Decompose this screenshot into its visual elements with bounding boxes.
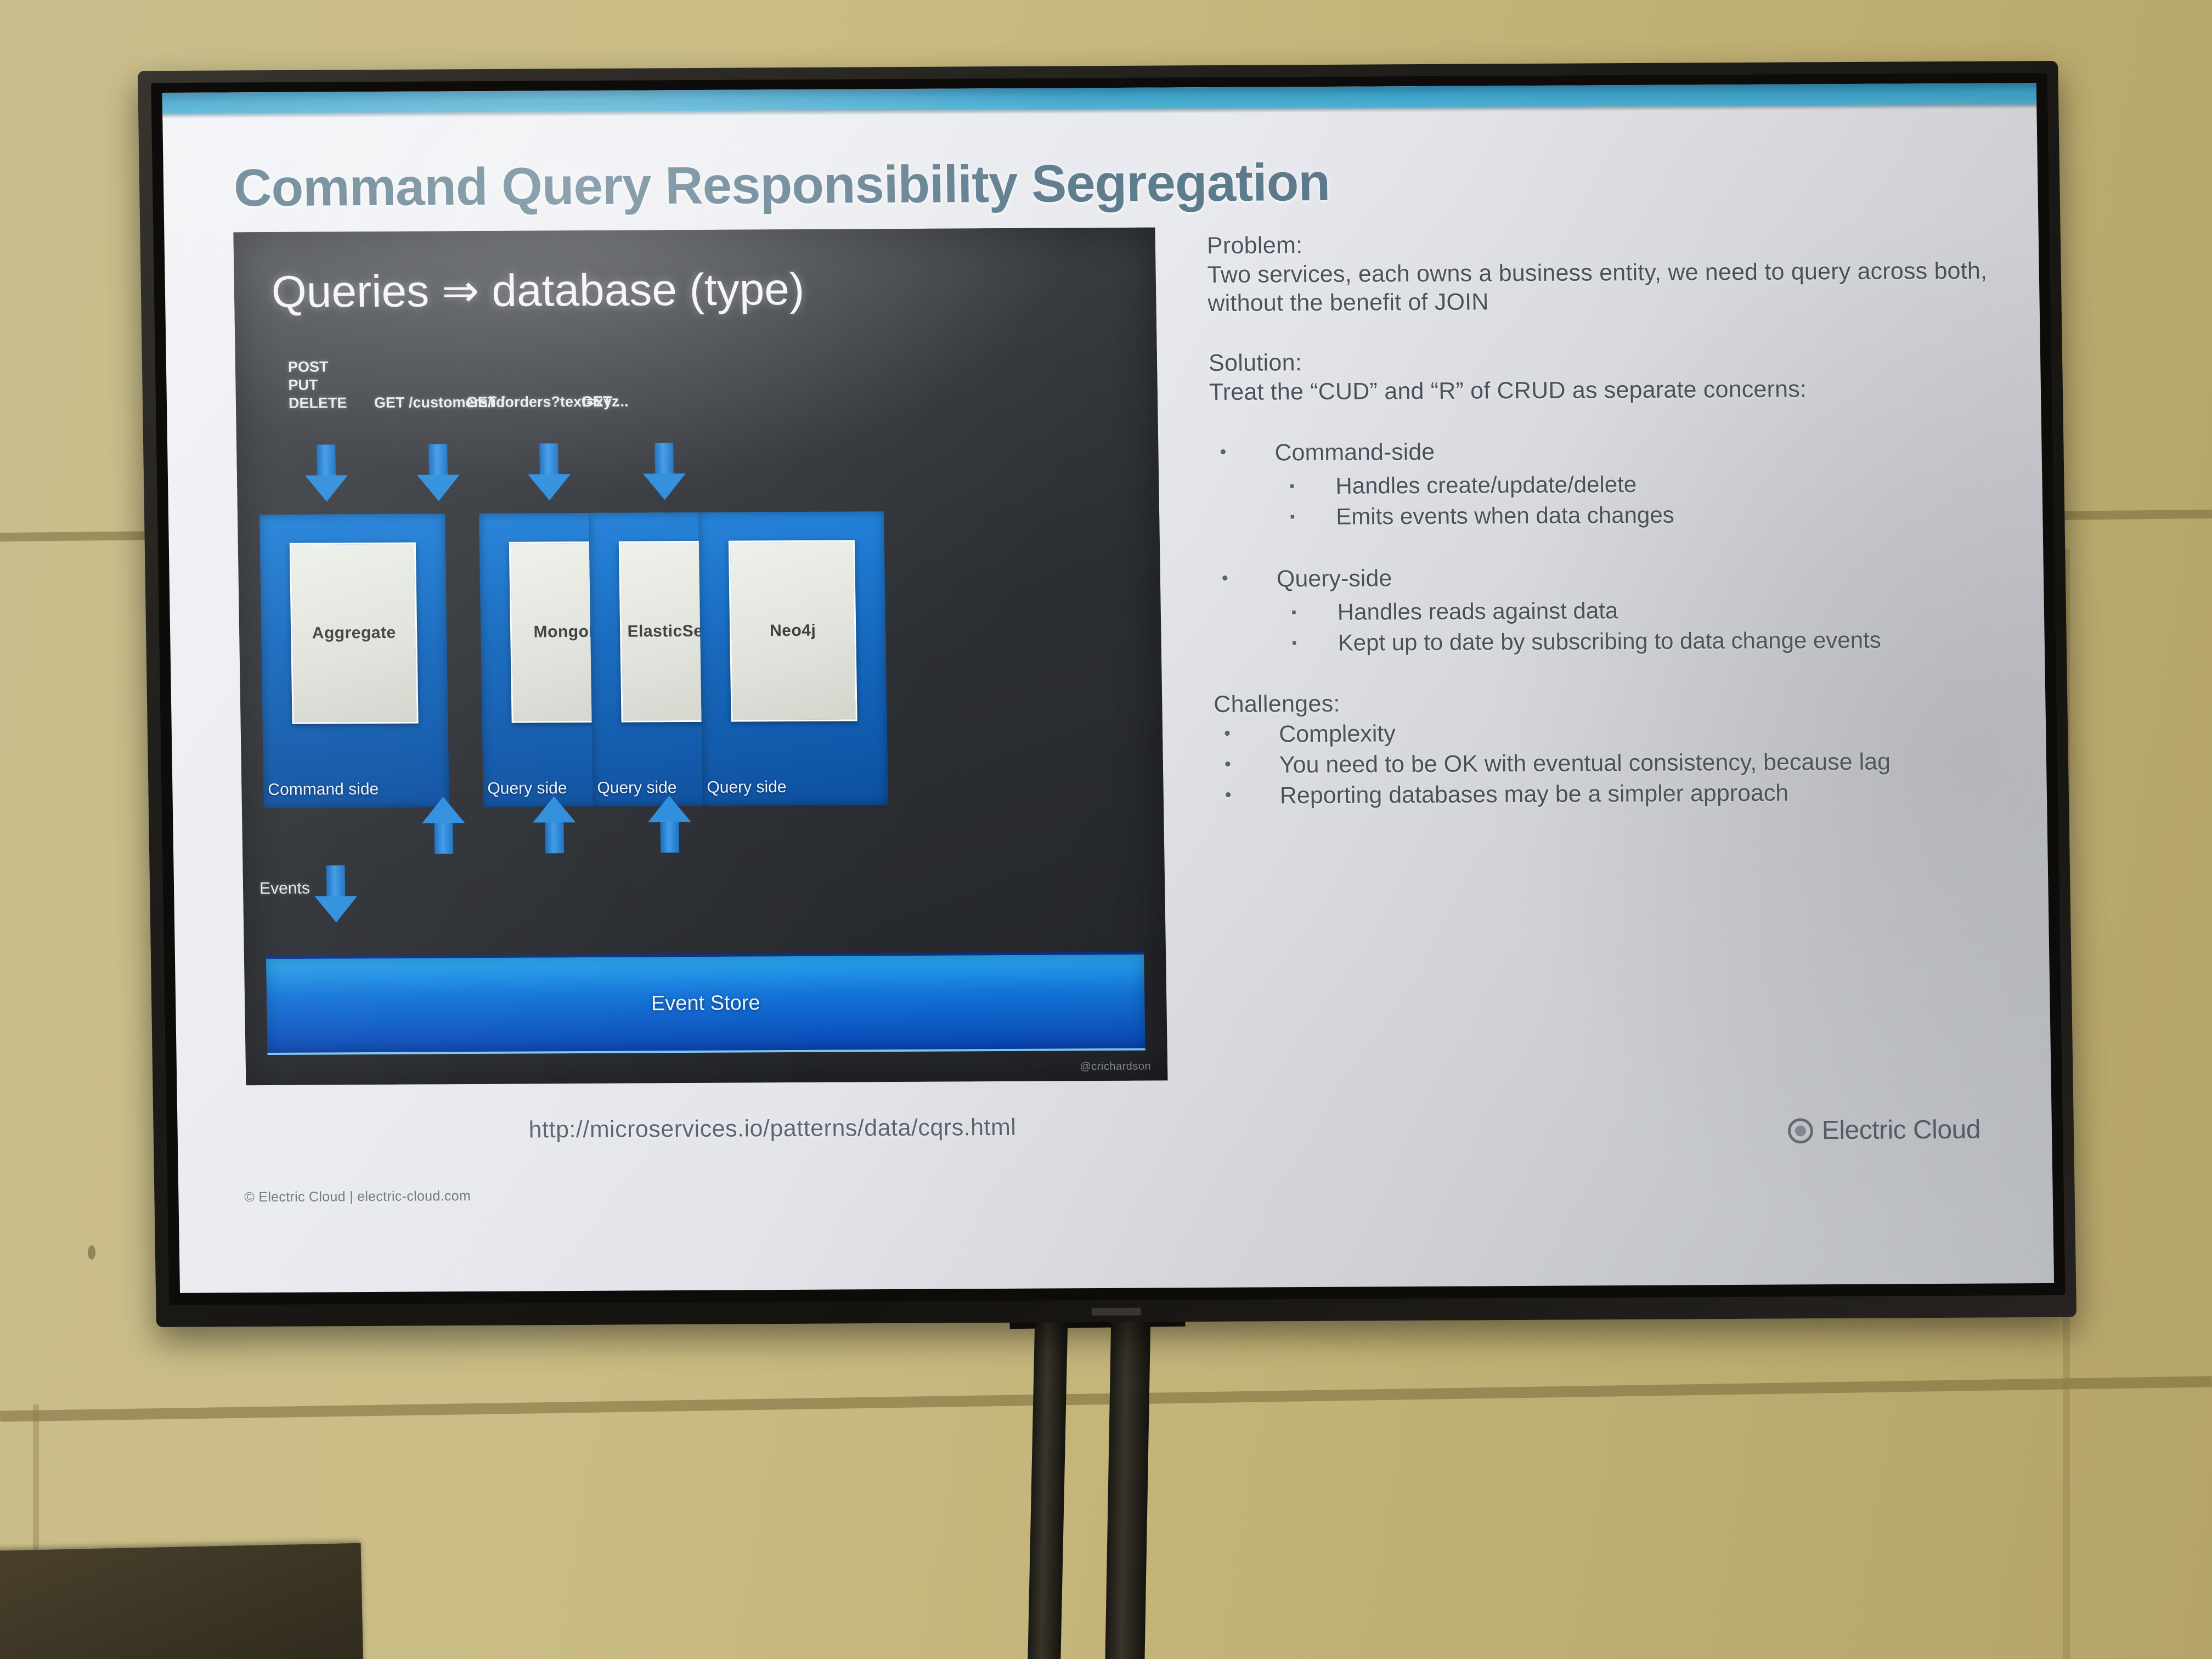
dark-panel-lower-left (0, 1543, 363, 1659)
command-side-points: Handles create/update/delete Emits event… (1275, 467, 2023, 532)
db-side-label-neo4j: Query side (707, 778, 787, 797)
cqrs-diagram: Queries ⇒ database (type) POSTPUTDELETE … (233, 228, 1167, 1086)
list-item-query-side: Query-side Handles reads against data Ke… (1211, 559, 2025, 659)
problem-text: Two services, each owns a business entit… (1207, 256, 2020, 318)
slide-body-column: Problem: Two services, each owns a busin… (1207, 227, 2028, 811)
list-item: Kept up to date by subscribing to data c… (1277, 624, 2025, 658)
wall-mark (88, 1245, 95, 1260)
diagram-column-aggregate: Aggregate Command side (259, 513, 449, 808)
presentation-slide: Command Query Responsibility Segregation… (162, 83, 2055, 1293)
sides-list: Command-side Handles create/update/delet… (1210, 433, 2023, 533)
page-title: Command Query Responsibility Segregation (233, 153, 1330, 218)
event-store-label: Event Store (651, 991, 760, 1015)
request-label-generic-get: GET ... (582, 393, 629, 411)
wall-mounted-display: Command Query Responsibility Segregation… (138, 61, 2076, 1327)
db-chip-label: Aggregate (312, 624, 396, 643)
list-item: Emits events when data changes (1276, 498, 2023, 532)
command-side-label: Command-side (1274, 439, 1435, 466)
query-side-label: Query-side (1277, 565, 1392, 592)
challenges-list: Complexity You need to be OK with eventu… (1214, 715, 2028, 811)
brand-name: Electric Cloud (1821, 1115, 1980, 1146)
request-label-command: POSTPUTDELETE (288, 358, 347, 413)
diagram-column-neo4j: Neo4j Query side (698, 511, 888, 806)
problem-heading: Problem: (1207, 227, 2019, 261)
events-label: Events (259, 879, 310, 898)
db-chip-neo4j: Neo4j (729, 540, 857, 721)
challenges-heading: Challenges: (1214, 685, 2026, 719)
solution-text: Treat the “CUD” and “R” of CRUD as separ… (1209, 374, 2021, 407)
list-item: You need to be OK with eventual consiste… (1215, 746, 2027, 781)
list-item: Complexity (1214, 715, 2027, 750)
db-chip-label: Neo4j (770, 622, 816, 640)
db-side-label-mongodb: Query side (487, 779, 567, 798)
db-side-label-elasticsearch: Query side (597, 778, 677, 798)
query-side-points: Handles reads against data Kept up to da… (1277, 593, 2025, 658)
event-store-bar: Event Store (266, 952, 1145, 1055)
list-item: Handles create/update/delete (1275, 467, 2023, 501)
list-item: Reporting databases may be a simpler app… (1215, 776, 2027, 811)
diagram-watermark: @crichardson (1080, 1060, 1151, 1074)
diagram-heading: Queries ⇒ database (type) (271, 263, 805, 318)
monitor-stand-pole-right (1105, 1311, 1150, 1659)
solution-heading: Solution: (1209, 344, 2021, 378)
source-url[interactable]: http://microservices.io/patterns/data/cq… (528, 1114, 1016, 1144)
list-item-command-side: Command-side Handles create/update/delet… (1210, 433, 2023, 533)
electric-cloud-logo-icon (1787, 1118, 1813, 1143)
query-side-list: Query-side Handles reads against data Ke… (1211, 559, 2025, 659)
display-brand-badge (1092, 1308, 1141, 1316)
db-chip-aggregate: Aggregate (290, 543, 419, 724)
footer-copyright: © Electric Cloud | electric-cloud.com (244, 1188, 471, 1205)
db-side-label-aggregate: Command side (268, 780, 379, 799)
brand-lockup: Electric Cloud (1787, 1115, 1980, 1146)
list-item: Handles reads against data (1277, 593, 2024, 628)
